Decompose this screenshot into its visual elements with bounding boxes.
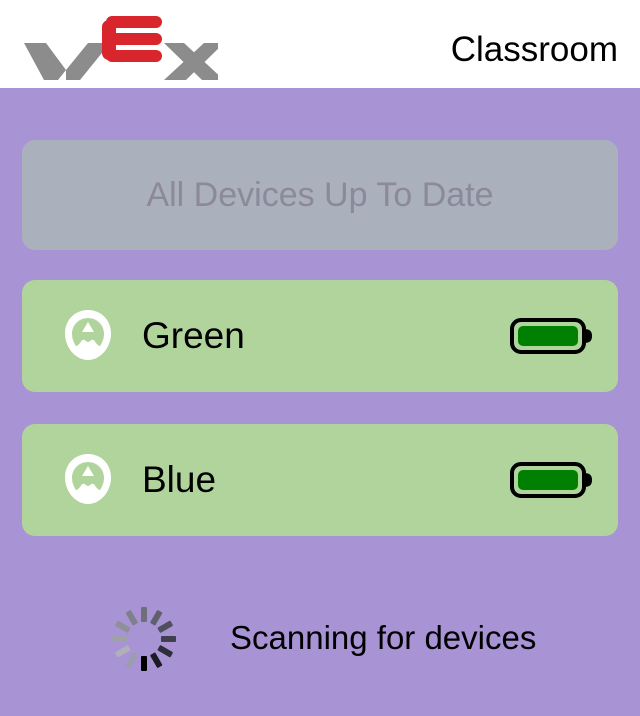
loading-spinner-icon <box>110 605 178 673</box>
spinner-bar <box>150 610 163 626</box>
device-card[interactable]: Green <box>22 280 618 392</box>
spinner-bar <box>157 620 173 633</box>
main-content: All Devices Up To Date Green Blue <box>0 88 640 716</box>
spinner-bar <box>141 656 147 671</box>
battery-full-icon <box>510 462 592 498</box>
vex-logo <box>18 8 218 80</box>
app-title: Classroom <box>451 30 618 70</box>
app-header: Classroom <box>0 0 640 88</box>
device-name: Blue <box>142 459 216 501</box>
battery-full-icon <box>510 318 592 354</box>
spinner-bar <box>157 645 173 658</box>
device-name: Green <box>142 315 245 357</box>
spinner-bar <box>141 607 147 622</box>
update-status-text: All Devices Up To Date <box>146 176 493 215</box>
spinner-bar <box>115 620 131 633</box>
spinner-bar <box>150 652 163 668</box>
spinner-bar <box>125 652 138 668</box>
spinner-bar <box>161 636 176 642</box>
vex-brain-icon <box>60 307 116 365</box>
scanning-status-row: Scanning for devices <box>0 593 640 693</box>
spinner-bar <box>125 610 138 626</box>
scanning-label: Scanning for devices <box>230 613 536 663</box>
update-status-box: All Devices Up To Date <box>22 140 618 250</box>
device-card[interactable]: Blue <box>22 424 618 536</box>
vex-brain-icon <box>60 451 116 509</box>
spinner-bar <box>115 645 131 658</box>
spinner-bar <box>112 636 127 642</box>
